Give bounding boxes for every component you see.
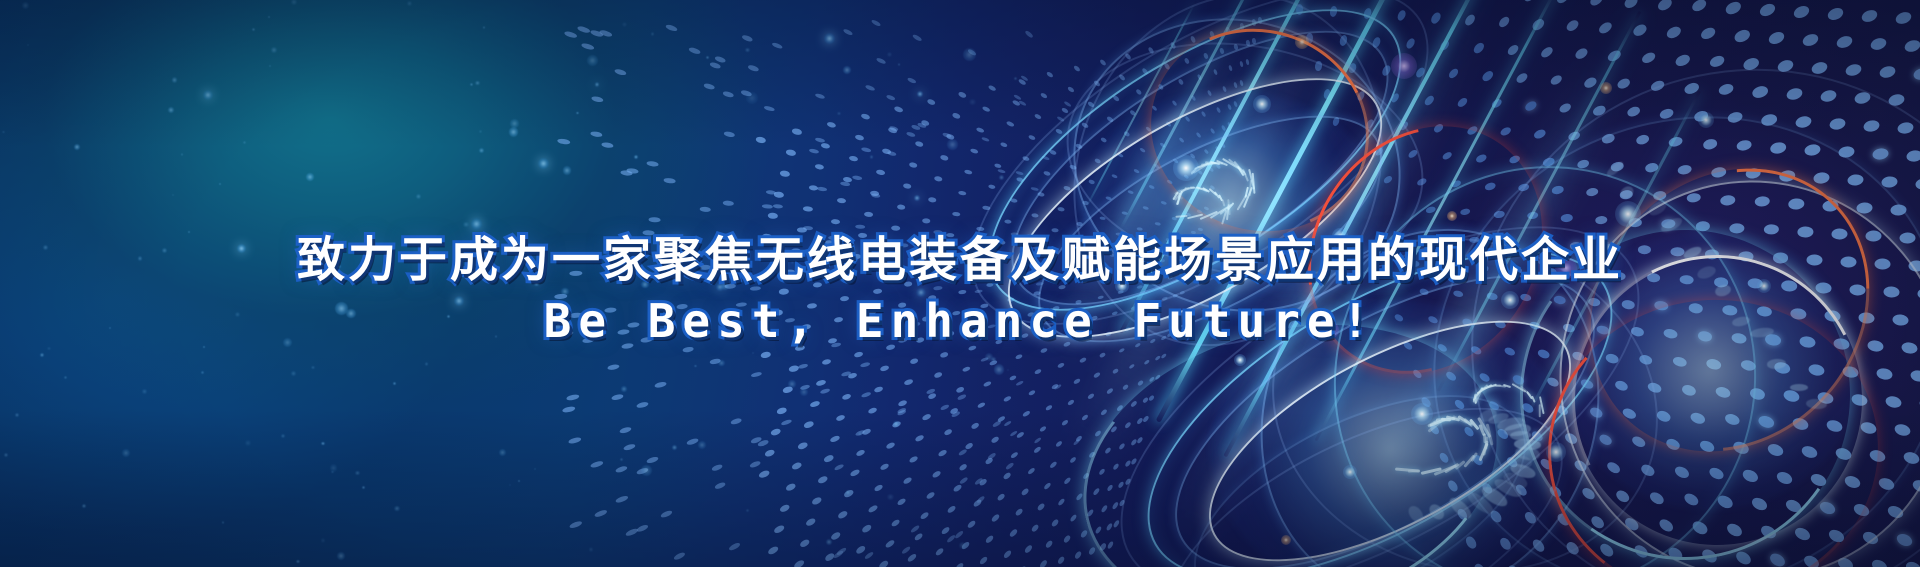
headline-chinese: 致力于成为一家聚焦无线电装备及赋能场景应用的现代企业 <box>0 236 1920 285</box>
banner-copy: 致力于成为一家聚焦无线电装备及赋能场景应用的现代企业 Be Best, Enha… <box>0 236 1920 345</box>
headline-english: Be Best, Enhance Future! <box>0 297 1920 345</box>
hero-banner: 致力于成为一家聚焦无线电装备及赋能场景应用的现代企业 Be Best, Enha… <box>0 0 1920 567</box>
